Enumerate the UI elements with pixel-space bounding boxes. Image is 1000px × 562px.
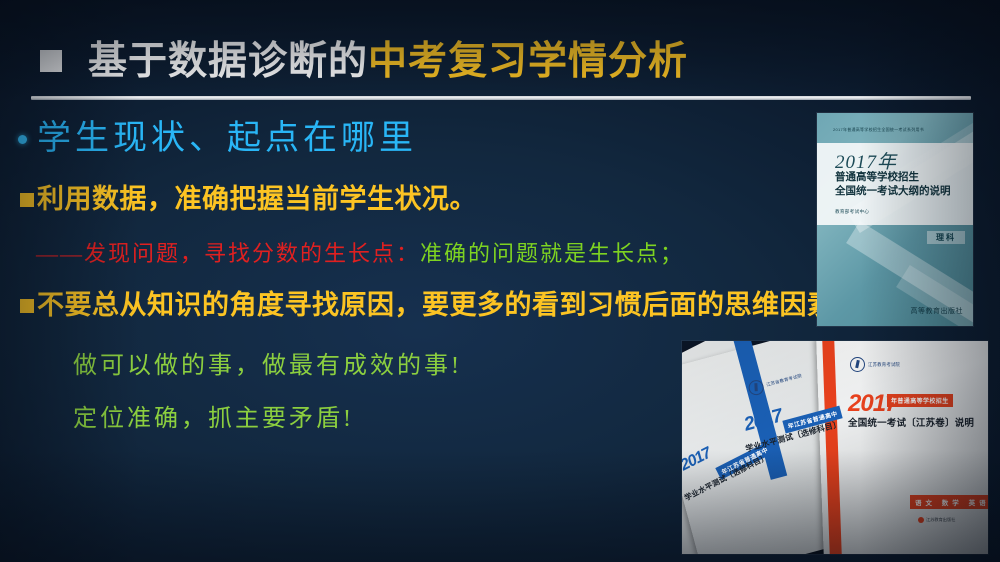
book-cover-image: 2017年普通高等学校招生全国统一考试系列用书 2017年 普通高等学校招生 全… [817,113,973,326]
subline-find-problem: ——发现问题，寻找分数的生长点：准确的问题就是生长点； [36,243,684,265]
quote-line-2: 定位准确，抓主要矛盾! [73,407,354,431]
dot-bullet-icon [18,135,27,144]
bullet-use-data-label: 利用数据，准确把握当前学生状况。 [37,186,477,213]
cover-title-line1: 普通高等学校招生 [835,171,951,185]
bullet-thinking-factors: 不要总从知识的角度寻找原因，要更多的看到习惯后面的思维因素。 [20,292,862,319]
cover-microline: 2017年普通高等学校招生全国统一考试系列用书 [833,127,957,133]
publisher-dot-icon [918,517,924,523]
page-title: 基于数据诊断的中考复习学情分析 [40,33,688,89]
bullet-use-data: 利用数据，准确把握当前学生状况。 [20,186,477,213]
booklet-front-tag: 年普通高等学校招生 [887,394,953,407]
title-part-gold: 中考复习学情分析 [368,40,688,83]
cover-title: 普通高等学校招生 全国统一考试大纲的说明 [835,171,951,199]
title-part-white: 基于数据诊断的 [88,40,368,83]
booklet-front-subjects: 语文 数学 英语 [910,495,988,509]
title-square-marker-icon [40,50,62,72]
subline-green-part: 准确的问题就是生长点； [420,241,684,266]
bullet-thinking-factors-label: 不要总从知识的角度寻找原因，要更多的看到习惯后面的思维因素。 [37,292,862,319]
square-bullet-icon [20,299,34,313]
title-divider [31,96,971,100]
title-text: 基于数据诊断的中考复习学情分析 [88,42,688,81]
booklet-front-logo-label: 江苏教育考试院 [868,362,900,368]
exam-booklets-photo: 2017 年江苏省普通高中 学业水平测试〔选修科目〕 江苏省教育考试院 2017… [682,341,988,554]
booklet-front-publisher: 江苏教育出版社 [918,517,955,523]
bullet-student-status: 学生现状、起点在哪里 [18,122,417,156]
bullet-student-status-label: 学生现状、起点在哪里 [37,122,417,156]
cover-subnote: 教育部考试中心 [835,209,869,215]
cover-title-line2: 全国统一考试大纲的说明 [835,185,951,199]
square-bullet-icon [20,193,34,207]
quote-line-1: 做可以做的事，做最有成效的事! [73,354,462,378]
subline-red-part: ——发现问题，寻找分数的生长点： [36,241,420,266]
cover-subject-badge: 理科 [927,231,965,244]
torch-emblem-icon [850,357,865,372]
booklet-front-publisher-label: 江苏教育出版社 [926,517,955,523]
booklet-front [816,341,988,554]
slide-canvas: 基于数据诊断的中考复习学情分析 学生现状、起点在哪里 利用数据，准确把握当前学生… [0,0,1000,562]
cover-publisher: 高等教育出版社 [911,306,964,316]
booklet-front-title: 全国统一考试〔江苏卷〕说明 [848,415,974,429]
cover-year: 2017年 [835,147,897,174]
booklet-front-logo-icon: 江苏教育考试院 [850,357,900,372]
